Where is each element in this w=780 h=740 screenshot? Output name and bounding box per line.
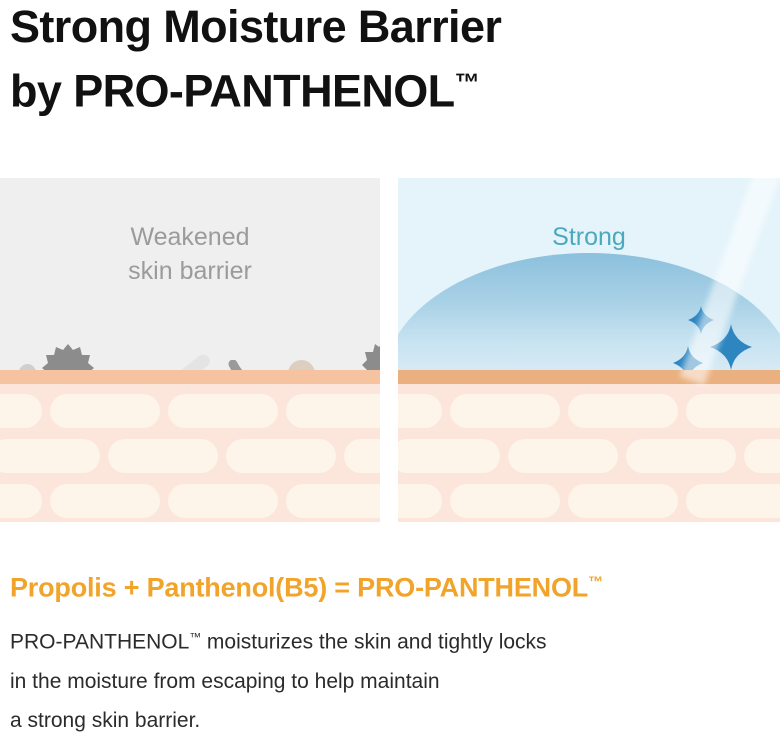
skin-cell-row (0, 394, 380, 428)
skin-cell (568, 394, 678, 428)
skin-cell (398, 484, 442, 518)
weakened-label-line-2: skin barrier (0, 254, 380, 288)
ingredient-formula-title: Propolis + Panthenol(B5) = PRO-PANTHENOL… (10, 566, 775, 604)
skin-cell (626, 439, 736, 473)
skin-cell (168, 484, 278, 518)
product-description-block: Propolis + Panthenol(B5) = PRO-PANTHENOL… (10, 566, 775, 740)
description-line-3: a strong skin barrier. (10, 701, 775, 740)
skin-cell (0, 394, 42, 428)
page-title-line-1: Strong Moisture Barrier (10, 0, 770, 55)
strong-barrier-panel: Strong skin barrier (398, 178, 780, 522)
skin-cell (0, 439, 100, 473)
skin-cell (168, 394, 278, 428)
skin-cell (398, 439, 500, 473)
skin-cell (686, 394, 780, 428)
page-title-brand: by PRO-PANTHENOL (10, 66, 455, 117)
description-line-1: PRO-PANTHENOL™ moisturizes the skin and … (10, 618, 775, 661)
weakened-barrier-label: Weakened skin barrier (0, 220, 380, 288)
skin-cell (108, 439, 218, 473)
page-title-line-2: by PRO-PANTHENOL™ (10, 55, 770, 120)
strong-label-line-1: Strong (398, 220, 780, 254)
skin-cell (344, 439, 380, 473)
skin-cell (450, 484, 560, 518)
description-line-1-rest: moisturizes the skin and tightly locks (201, 631, 546, 654)
skin-cell (0, 484, 42, 518)
description-line-2: in the moisture from escaping to help ma… (10, 662, 775, 701)
skin-cell (50, 394, 160, 428)
skin-cell (286, 394, 380, 428)
skin-cell-row (0, 439, 380, 473)
weakened-label-line-1: Weakened (0, 220, 380, 254)
skin-cell (50, 484, 160, 518)
skin-cell (286, 484, 380, 518)
skin-layer-left (0, 370, 380, 522)
product-description-text: PRO-PANTHENOL™ moisturizes the skin and … (10, 618, 775, 739)
skin-surface-band (398, 370, 780, 384)
skin-cell (686, 484, 780, 518)
skin-cell (744, 439, 780, 473)
skin-cell (398, 394, 442, 428)
skin-cell-row (398, 394, 780, 428)
trademark-symbol: ™ (588, 574, 603, 591)
skin-barrier-comparison-illustration: Weakened skin barrier (0, 178, 780, 522)
trademark-symbol: ™ (455, 69, 480, 97)
skin-cell-row (0, 484, 380, 518)
skin-cell-row (398, 439, 780, 473)
ingredient-formula-text: Propolis + Panthenol(B5) = PRO-PANTHENOL (10, 572, 588, 602)
page-title: Strong Moisture Barrier by PRO-PANTHENOL… (10, 0, 770, 120)
skin-surface-band (0, 370, 380, 384)
skin-cell (226, 439, 336, 473)
skin-layer-right (398, 370, 780, 522)
skin-cell-row (398, 484, 780, 518)
skin-cell (568, 484, 678, 518)
skin-cell (508, 439, 618, 473)
description-brand: PRO-PANTHENOL (10, 631, 189, 654)
weakened-barrier-panel: Weakened skin barrier (0, 178, 380, 522)
trademark-symbol: ™ (189, 631, 201, 644)
skin-cell (450, 394, 560, 428)
